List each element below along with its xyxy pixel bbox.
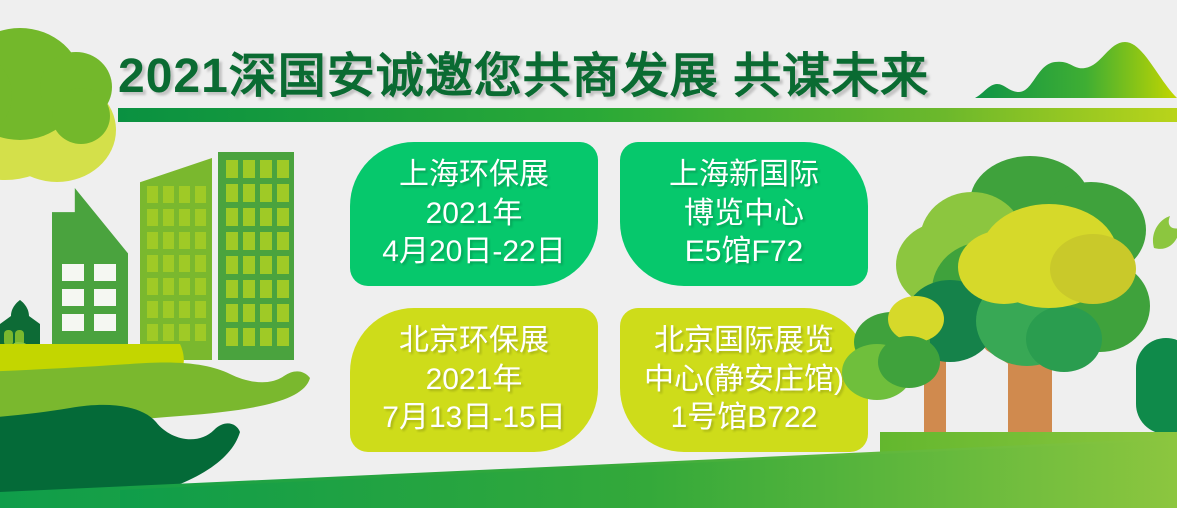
tree-group xyxy=(860,130,1177,460)
card-shanghai-expo[interactable]: 上海环保展 2021年 4月20日-22日 xyxy=(350,142,598,286)
shrub-icon xyxy=(888,296,944,342)
card-line: 4月20日-22日 xyxy=(382,233,565,271)
event-banner: 2021深国安诚邀您共商发展 共谋未来 上海环保展 2021年 4月20日-22… xyxy=(0,0,1177,508)
card-line: 北京国际展览 xyxy=(654,322,834,360)
page-title: 2021深国安诚邀您共商发展 共谋未来 xyxy=(118,36,929,106)
tree-foliage-highlight xyxy=(958,230,1050,304)
title-divider xyxy=(118,108,1177,122)
card-line: 2021年 xyxy=(426,195,523,233)
shrub-icon xyxy=(1136,338,1177,434)
tower-windows xyxy=(226,160,289,346)
card-line: 北京环保展 xyxy=(399,322,549,360)
bottom-band xyxy=(0,430,1177,508)
card-line: 中心(静安庄馆) xyxy=(644,361,844,399)
tower-windows xyxy=(147,186,206,341)
leaf-icon xyxy=(1148,214,1177,274)
card-line: 上海环保展 xyxy=(399,156,549,194)
tree-foliage-highlight xyxy=(1050,234,1136,304)
card-line: E5馆F72 xyxy=(685,233,803,271)
mountain-icon xyxy=(975,36,1177,106)
card-line: 2021年 xyxy=(426,361,523,399)
card-line: 博览中心 xyxy=(684,195,804,233)
building-windows xyxy=(62,264,116,331)
card-line: 上海新国际 xyxy=(669,156,819,194)
card-shanghai-venue[interactable]: 上海新国际 博览中心 E5馆F72 xyxy=(620,142,868,286)
tree-foliage xyxy=(1026,306,1102,372)
shrub-icon xyxy=(878,336,940,388)
